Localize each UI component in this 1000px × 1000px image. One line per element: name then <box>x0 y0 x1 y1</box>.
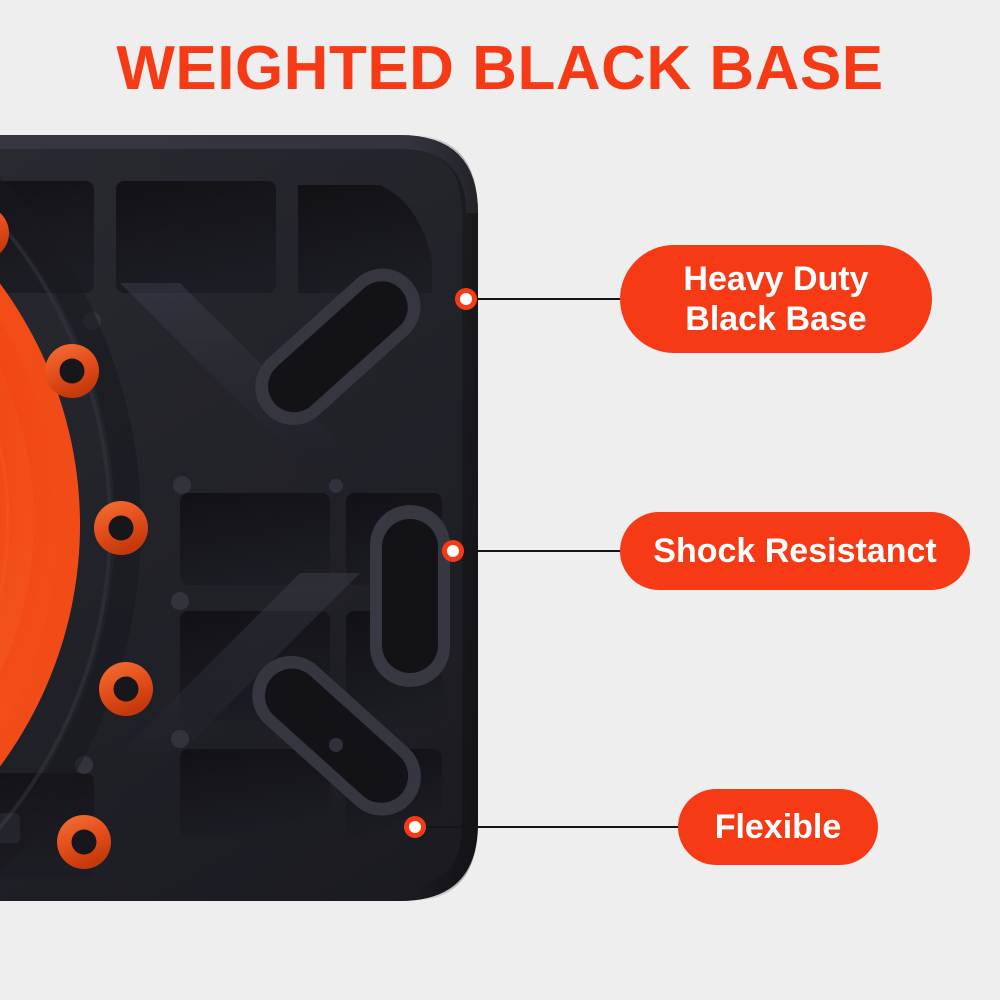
product-feature-callout-image: WEIGHTED BLACK BASE <box>0 0 1000 1000</box>
callout-leader-line-shock-resistanct <box>464 550 624 552</box>
callout-leader-line-heavy-duty <box>477 298 622 300</box>
callout-label-line-2: Black Base <box>685 299 866 339</box>
page-title: WEIGHTED BLACK BASE <box>0 38 1000 100</box>
callout-pill-heavy-duty-black-base[interactable]: Heavy Duty Black Base <box>620 245 932 353</box>
callout-label-line-1: Heavy Duty <box>683 259 868 299</box>
callout-label-line-1: Flexible <box>715 807 842 847</box>
callout-pill-flexible[interactable]: Flexible <box>678 789 878 865</box>
callout-marker-heavy-duty[interactable] <box>455 288 477 310</box>
callout-marker-flexible[interactable] <box>404 816 426 838</box>
callout-leader-line-flexible <box>426 826 684 828</box>
callout-label-line-1: Shock Resistanct <box>653 531 936 571</box>
product-illustration <box>0 133 480 968</box>
product-image <box>0 133 480 968</box>
callout-marker-shock-resistanct[interactable] <box>442 540 464 562</box>
callout-pill-shock-resistanct[interactable]: Shock Resistanct <box>620 512 970 590</box>
